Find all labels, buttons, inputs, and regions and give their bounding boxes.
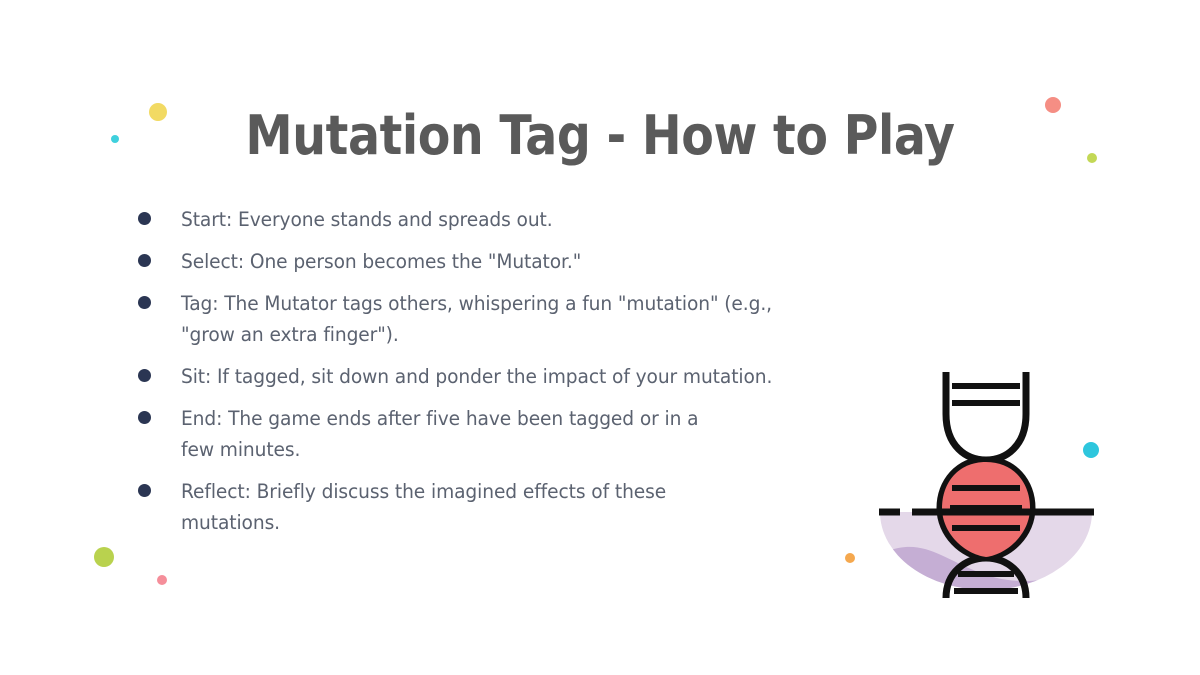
page-title: Mutation Tag - How to Play [72,104,1128,168]
instructions-list: Start: Everyone stands and spreads out. … [138,204,958,549]
dot-green-bottom-left [94,547,114,567]
dna-helix-illustration [862,358,1110,598]
bullet-dot-icon [138,254,151,267]
bullet-dot-icon [138,296,151,309]
list-item: Sit: If tagged, sit down and ponder the … [138,361,958,392]
list-item: Reflect: Briefly discuss the imagined ef… [138,476,958,538]
dot-orange-bottom-mid [845,553,855,563]
bullet-dot-icon [138,411,151,424]
list-item-text: Sit: If tagged, sit down and ponder the … [181,361,923,392]
list-item: Start: Everyone stands and spreads out. [138,204,958,235]
helix-rungs-upper-icon [952,386,1020,403]
list-item-text: Tag: The Mutator tags others, whispering… [181,288,923,350]
bullet-dot-icon [138,484,151,497]
bullet-dot-icon [138,369,151,382]
list-item: Tag: The Mutator tags others, whispering… [138,288,958,350]
dot-pink-bottom-left [157,575,167,585]
list-item: Select: One person becomes the "Mutator.… [138,246,958,277]
list-item-text: End: The game ends after five have been … [181,403,923,465]
list-item-text: Reflect: Briefly discuss the imagined ef… [181,476,923,538]
slide-canvas: Mutation Tag - How to Play Start: Everyo… [0,0,1200,675]
list-item-text: Select: One person becomes the "Mutator.… [181,246,923,277]
bullet-dot-icon [138,212,151,225]
list-item: End: The game ends after five have been … [138,403,958,465]
list-item-text: Start: Everyone stands and spreads out. [181,204,923,235]
